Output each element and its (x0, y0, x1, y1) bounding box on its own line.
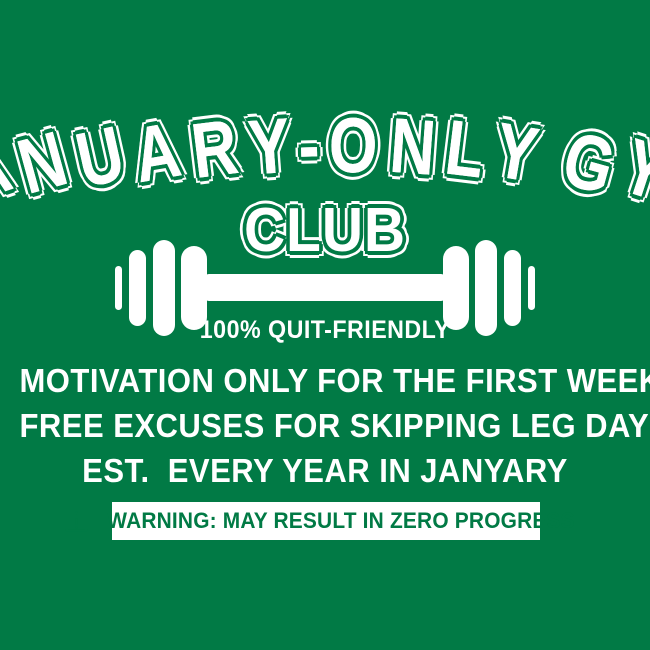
feature-line: MOTIVATION ONLY FOR THE FIRST WEEKS (20, 358, 631, 403)
warning-triangle-icon (65, 510, 88, 533)
warning-banner: WARNING: MAY RESULT IN ZERO PROGRESS (112, 502, 540, 540)
barbell-plate-left-outer (129, 250, 146, 326)
title-letter: A (128, 112, 184, 193)
title-letter: - (298, 108, 320, 183)
title-letter: L (442, 110, 488, 188)
barbell-plate-right-outer (504, 250, 521, 326)
barbell-bar (205, 274, 445, 301)
barbell-collar-left (115, 266, 122, 310)
barbell-collar-right (528, 266, 535, 310)
warning-text: WARNING: MAY RESULT IN ZERO PROGRESS (107, 508, 574, 534)
poster-artboard: JANUARY-ONLY GYM CLUB 100% QUIT-FRIENDLY… (0, 0, 650, 650)
title-letter: Y (246, 108, 292, 185)
title-letter: U (70, 116, 129, 198)
tagline: 100% QUIT-FRIENDLY (23, 316, 628, 345)
title-letter: R (187, 109, 240, 188)
title-letter: N (387, 108, 437, 185)
title-letter: O (328, 108, 378, 183)
feature-line: EST. EVERY YEAR IN JANYARY (20, 448, 631, 493)
title-letter: Y (489, 112, 542, 192)
feature-line: FREE EXCUSES FOR SKIPPING LEG DAY (20, 403, 631, 448)
title-letter: N (11, 121, 73, 204)
feature-list: MOTIVATION ONLY FOR THE FIRST WEEKS FREE… (0, 358, 650, 493)
